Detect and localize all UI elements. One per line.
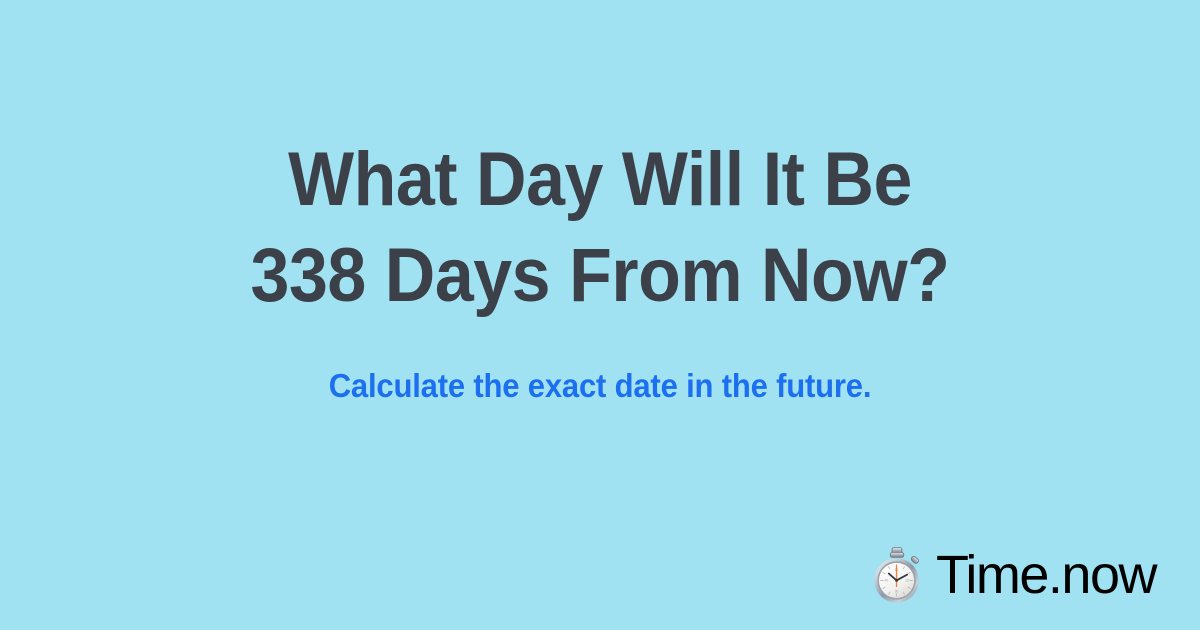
page-title: What Day Will It Be 338 Days From Now?	[48, 132, 1152, 324]
brand-lockup[interactable]: 60 15 30 45 Time.now	[868, 546, 1156, 604]
brand-name: Time.now	[936, 546, 1156, 604]
open-graph-card: What Day Will It Be 338 Days From Now? C…	[0, 0, 1200, 630]
page-title-line-1: What Day Will It Be	[48, 132, 1152, 228]
svg-text:45: 45	[884, 579, 888, 583]
stopwatch-icon: 60 15 30 45	[868, 546, 926, 604]
page-subtitle: Calculate the exact date in the future.	[36, 324, 1164, 406]
svg-text:30: 30	[895, 590, 899, 594]
hero-text-block: What Day Will It Be 338 Days From Now? C…	[0, 0, 1200, 406]
svg-text:15: 15	[905, 579, 909, 583]
page-title-line-2: 338 Days From Now?	[48, 228, 1152, 324]
